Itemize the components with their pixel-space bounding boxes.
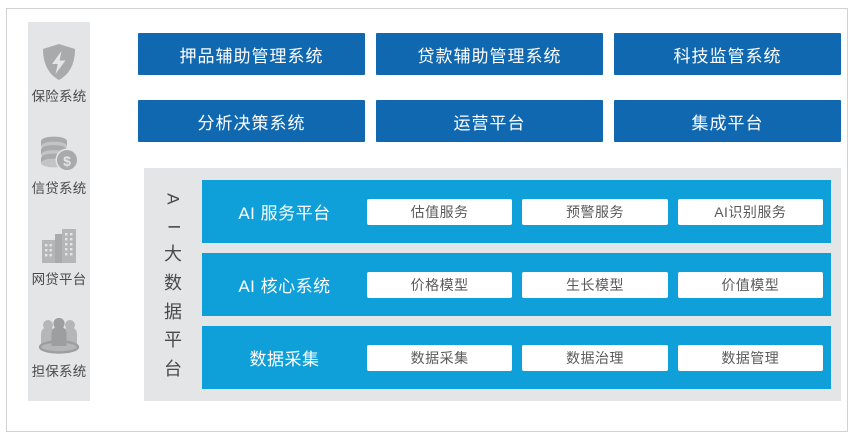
people-group-icon (37, 318, 81, 356)
architecture-diagram-frame: 保险系统 $ 信贷系统 (6, 8, 848, 432)
ai-box-ai-recognition-service[interactable]: AI识别服务 (678, 199, 823, 225)
ai-box-data-collection[interactable]: 数据采集 (367, 345, 512, 371)
vertical-label-char: I (164, 224, 182, 229)
content-column: 押品辅助管理系统 贷款辅助管理系统 科技监管系统 分析决策系统 运营平台 集成平… (138, 22, 841, 401)
sidebar-item-label: 信贷系统 (32, 177, 87, 197)
coins-dollar-icon: $ (38, 135, 80, 173)
sidebar-item-online-lending[interactable]: 网贷平台 (28, 226, 90, 288)
ai-box-valuation-service[interactable]: 估值服务 (367, 199, 512, 225)
system-bar-integration-platform[interactable]: 集成平台 (614, 100, 841, 142)
ai-row-boxes: 价格模型 生长模型 价值模型 (367, 272, 823, 298)
ai-bigdata-platform-panel: A I 大 数 据 平 台 AI 服务平台 估值服务 预警服务 AI识别服务 (144, 168, 841, 401)
sidebar-item-label: 保险系统 (32, 85, 87, 105)
system-bar-loan-management[interactable]: 贷款辅助管理系统 (376, 33, 603, 75)
sidebar-item-guarantee[interactable]: 担保系统 (28, 318, 90, 380)
ai-platform-vertical-label: A I 大 数 据 平 台 (144, 180, 202, 389)
top-systems-row-2: 分析决策系统 运营平台 集成平台 (138, 100, 841, 142)
ai-row-title: AI 核心系统 (202, 272, 367, 297)
ai-box-data-governance[interactable]: 数据治理 (522, 345, 667, 371)
buildings-icon (39, 226, 79, 264)
vertical-label-char: 平 (164, 331, 182, 350)
ai-platform-rows: AI 服务平台 估值服务 预警服务 AI识别服务 AI 核心系统 价格模型 生长… (202, 180, 831, 389)
sidebar: 保险系统 $ 信贷系统 (28, 22, 90, 401)
vertical-label-char: 数 (164, 274, 182, 293)
system-bar-tech-supervision[interactable]: 科技监管系统 (614, 33, 841, 75)
ai-service-platform-row: AI 服务平台 估值服务 预警服务 AI识别服务 (202, 180, 831, 243)
system-bar-analysis-decision[interactable]: 分析决策系统 (138, 100, 365, 142)
ai-box-alert-service[interactable]: 预警服务 (522, 199, 667, 225)
ai-core-system-row: AI 核心系统 价格模型 生长模型 价值模型 (202, 253, 831, 316)
system-bar-collateral-management[interactable]: 押品辅助管理系统 (138, 33, 365, 75)
ai-row-title: AI 服务平台 (202, 199, 367, 224)
shield-bolt-icon (41, 43, 77, 81)
ai-box-price-model[interactable]: 价格模型 (367, 272, 512, 298)
data-collection-row: 数据采集 数据采集 数据治理 数据管理 (202, 326, 831, 389)
ai-box-growth-model[interactable]: 生长模型 (522, 272, 667, 298)
ai-box-value-model[interactable]: 价值模型 (678, 272, 823, 298)
vertical-label-char: 台 (164, 360, 182, 379)
sidebar-item-label: 担保系统 (32, 360, 87, 380)
vertical-label-char: A (164, 193, 182, 204)
ai-row-boxes: 数据采集 数据治理 数据管理 (367, 345, 823, 371)
system-bar-operations-platform[interactable]: 运营平台 (376, 100, 603, 142)
top-systems-row-1: 押品辅助管理系统 贷款辅助管理系统 科技监管系统 (138, 33, 841, 75)
ai-box-data-management[interactable]: 数据管理 (678, 345, 823, 371)
sidebar-item-credit[interactable]: $ 信贷系统 (28, 135, 90, 197)
sidebar-item-label: 网贷平台 (32, 268, 87, 288)
vertical-label-char: 大 (164, 245, 182, 264)
svg-text:$: $ (63, 153, 71, 169)
ai-row-boxes: 估值服务 预警服务 AI识别服务 (367, 199, 823, 225)
vertical-label-char: 据 (164, 303, 182, 322)
ai-row-title: 数据采集 (202, 345, 367, 370)
sidebar-item-insurance[interactable]: 保险系统 (28, 43, 90, 105)
